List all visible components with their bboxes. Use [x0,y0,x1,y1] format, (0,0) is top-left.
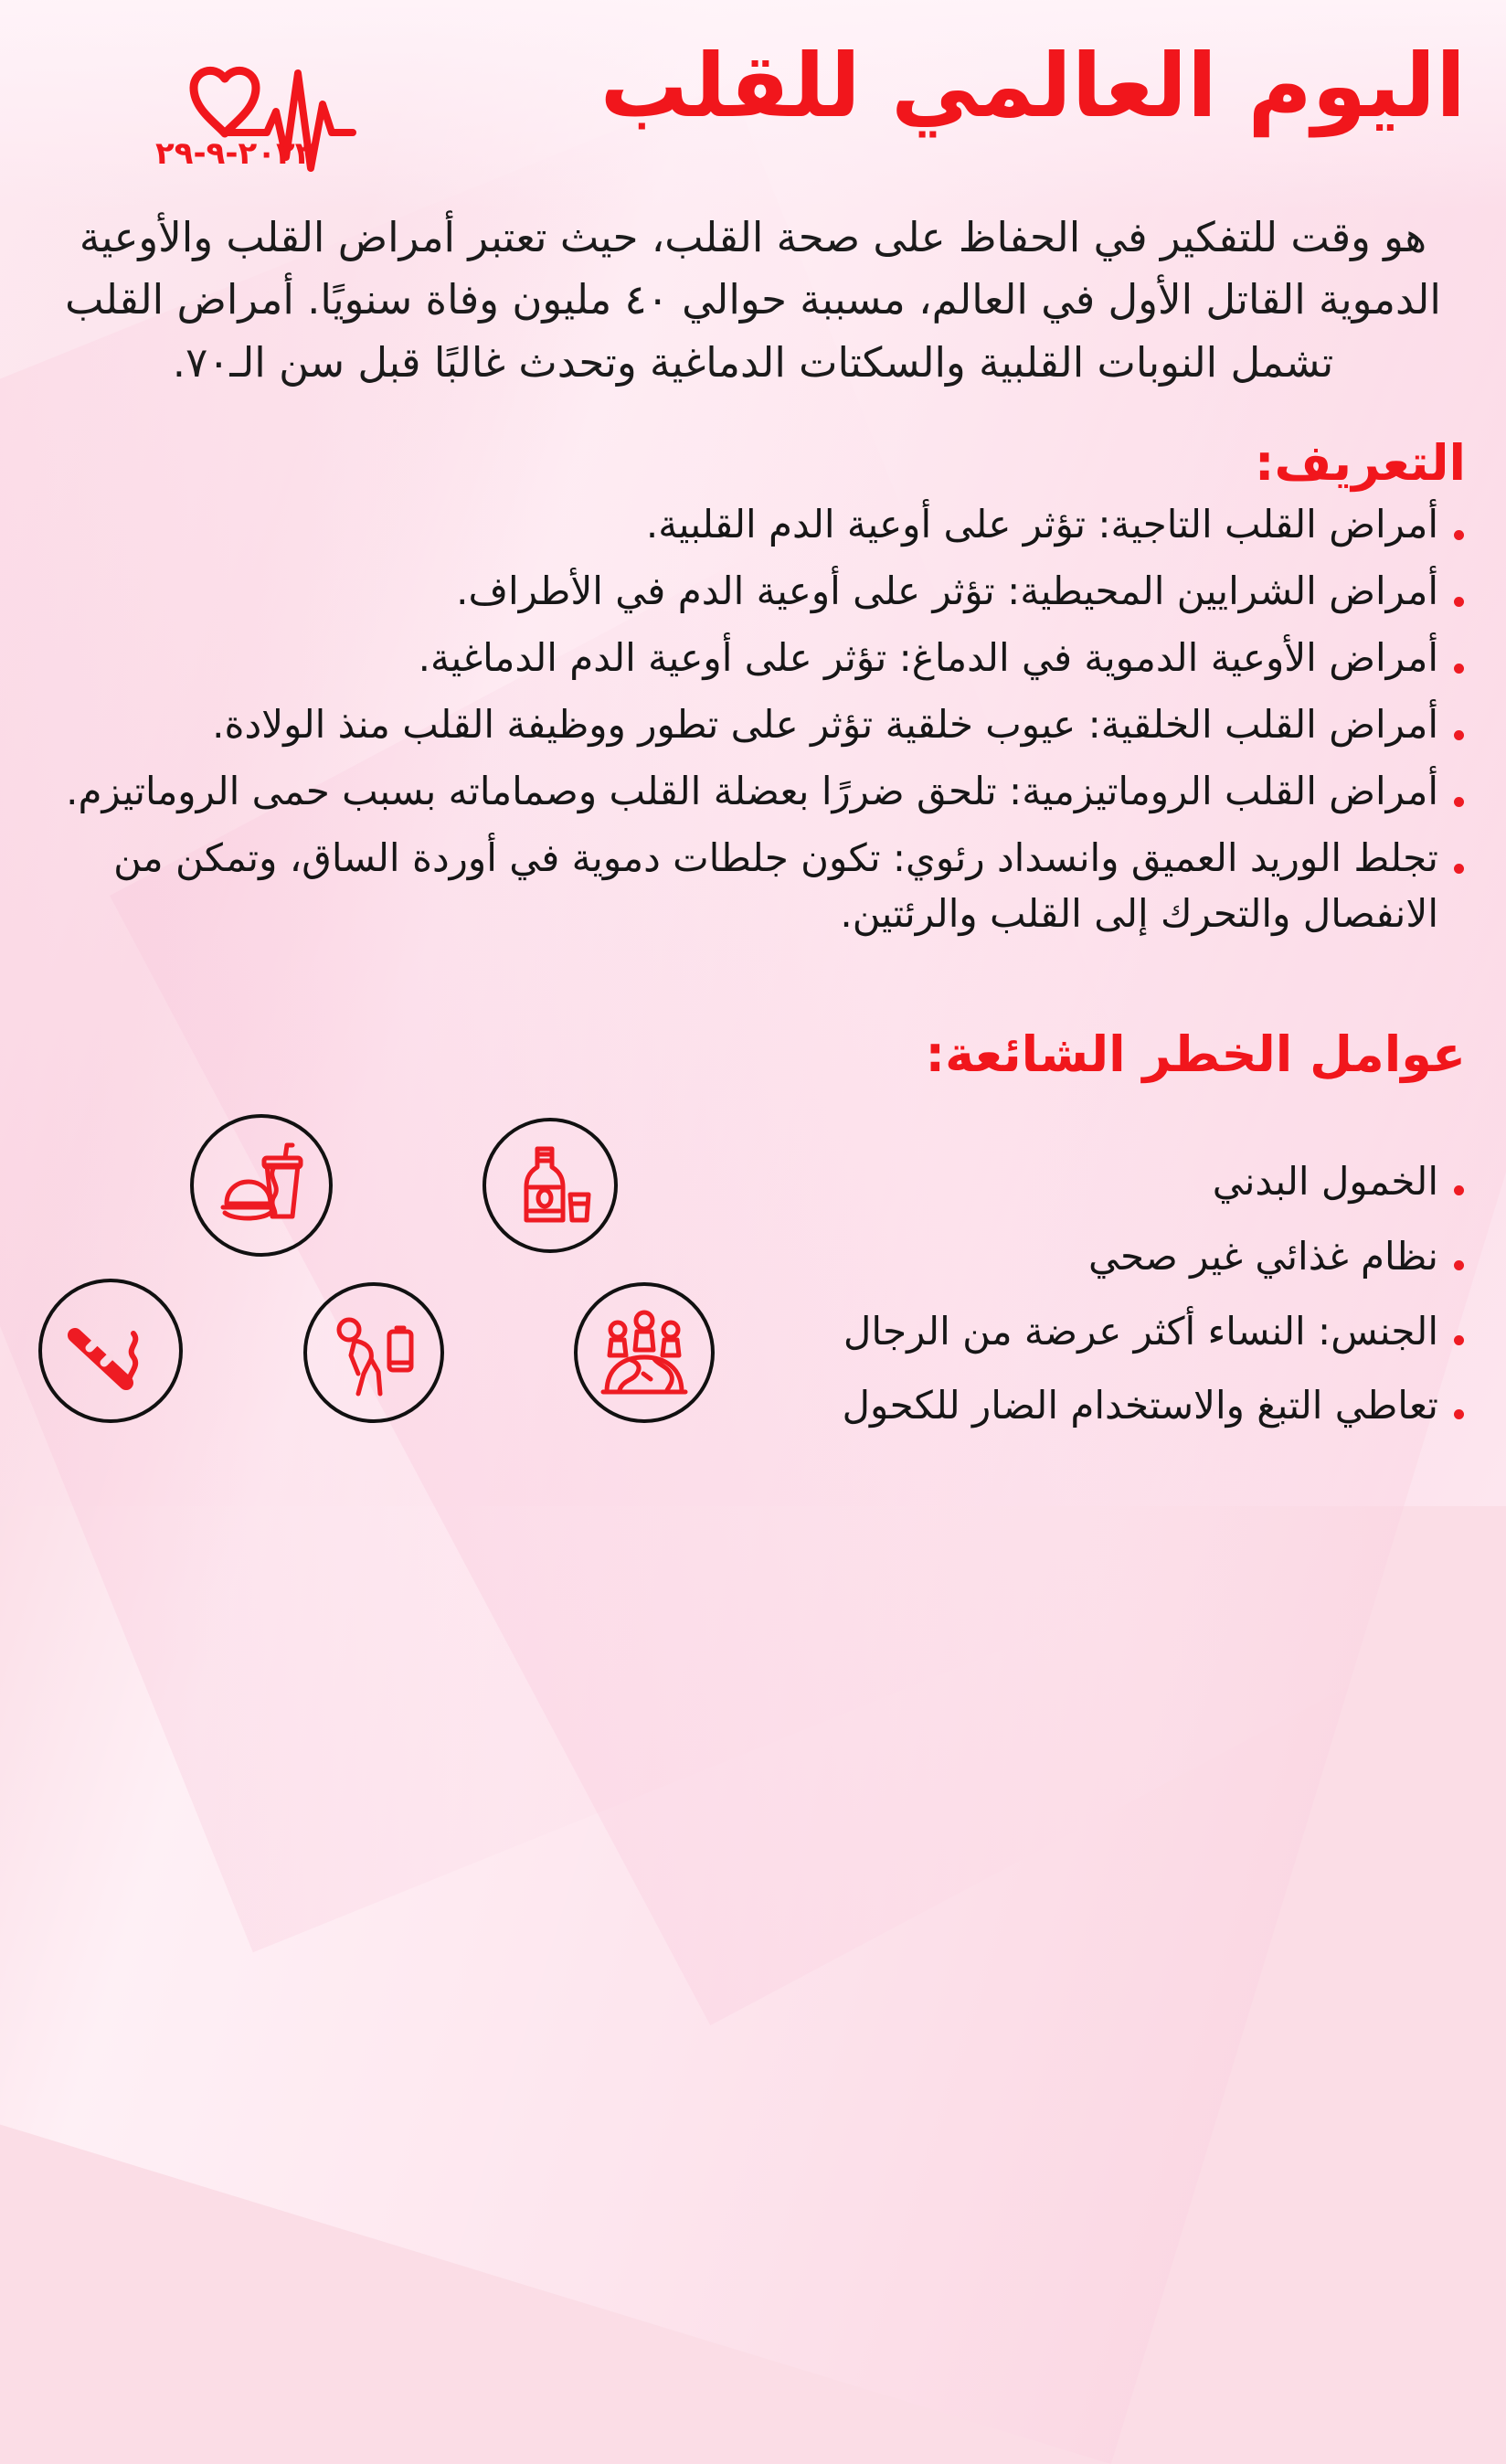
fast-food-icon [190,1114,333,1257]
list-item: نظام غذائي غير صحي [720,1229,1469,1284]
list-item: أمراض القلب الخلقية: عيوب خلقية تؤثر على… [27,697,1469,753]
list-item: أمراض الشرايين المحيطية: تؤثر على أوعية … [27,564,1469,620]
heart-ecg-icon: ٢٠٢٣-٩-٢٩ [137,40,402,186]
risk-factors-list: الخمول البدني نظام غذائي غير صحي الجنس: … [720,1154,1469,1453]
definition-list: أمراض القلب التاجية: تؤثر على أوعية الدم… [27,497,1469,941]
list-item: تعاطي التبغ والاستخدام الضار للكحول [720,1378,1469,1433]
risk-factors-heading: عوامل الخطر الشائعة: [0,1025,1466,1083]
list-item: أمراض الأوعية الدموية في الدماغ: تؤثر عل… [27,631,1469,686]
risk-factors-section: الخمول البدني نظام غذائي غير صحي الجنس: … [0,1089,1506,1518]
risk-icon-cluster [0,1089,749,1518]
list-item: أمراض القلب التاجية: تؤثر على أوعية الدم… [27,497,1469,553]
list-item: تجلط الوريد العميق وانسداد رئوي: تكون جل… [27,831,1469,942]
no-smoking-cigarette-icon [38,1279,183,1423]
people-on-globe-icon [574,1282,715,1423]
poster-page: اليوم العالمي للقلب ٢٠٢٣-٩-٢٩ هو وقت للت… [0,0,1506,1506]
alcohol-bottle-icon [483,1118,618,1253]
intro-paragraph: هو وقت للتفكير في الحفاظ على صحة القلب، … [37,207,1469,394]
event-date: ٢٠٢٣-٩-٢٩ [155,135,314,172]
fatigue-low-battery-icon [303,1282,444,1423]
poster-header: اليوم العالمي للقلب ٢٠٢٣-٩-٢٩ [0,0,1506,199]
list-item: الخمول البدني [720,1154,1469,1209]
definition-heading: التعريف: [0,434,1466,492]
page-title: اليوم العالمي للقلب [600,42,1466,130]
list-item: أمراض القلب الروماتيزمية: تلحق ضررًا بعض… [27,764,1469,820]
list-item: الجنس: النساء أكثر عرضة من الرجال [720,1304,1469,1359]
